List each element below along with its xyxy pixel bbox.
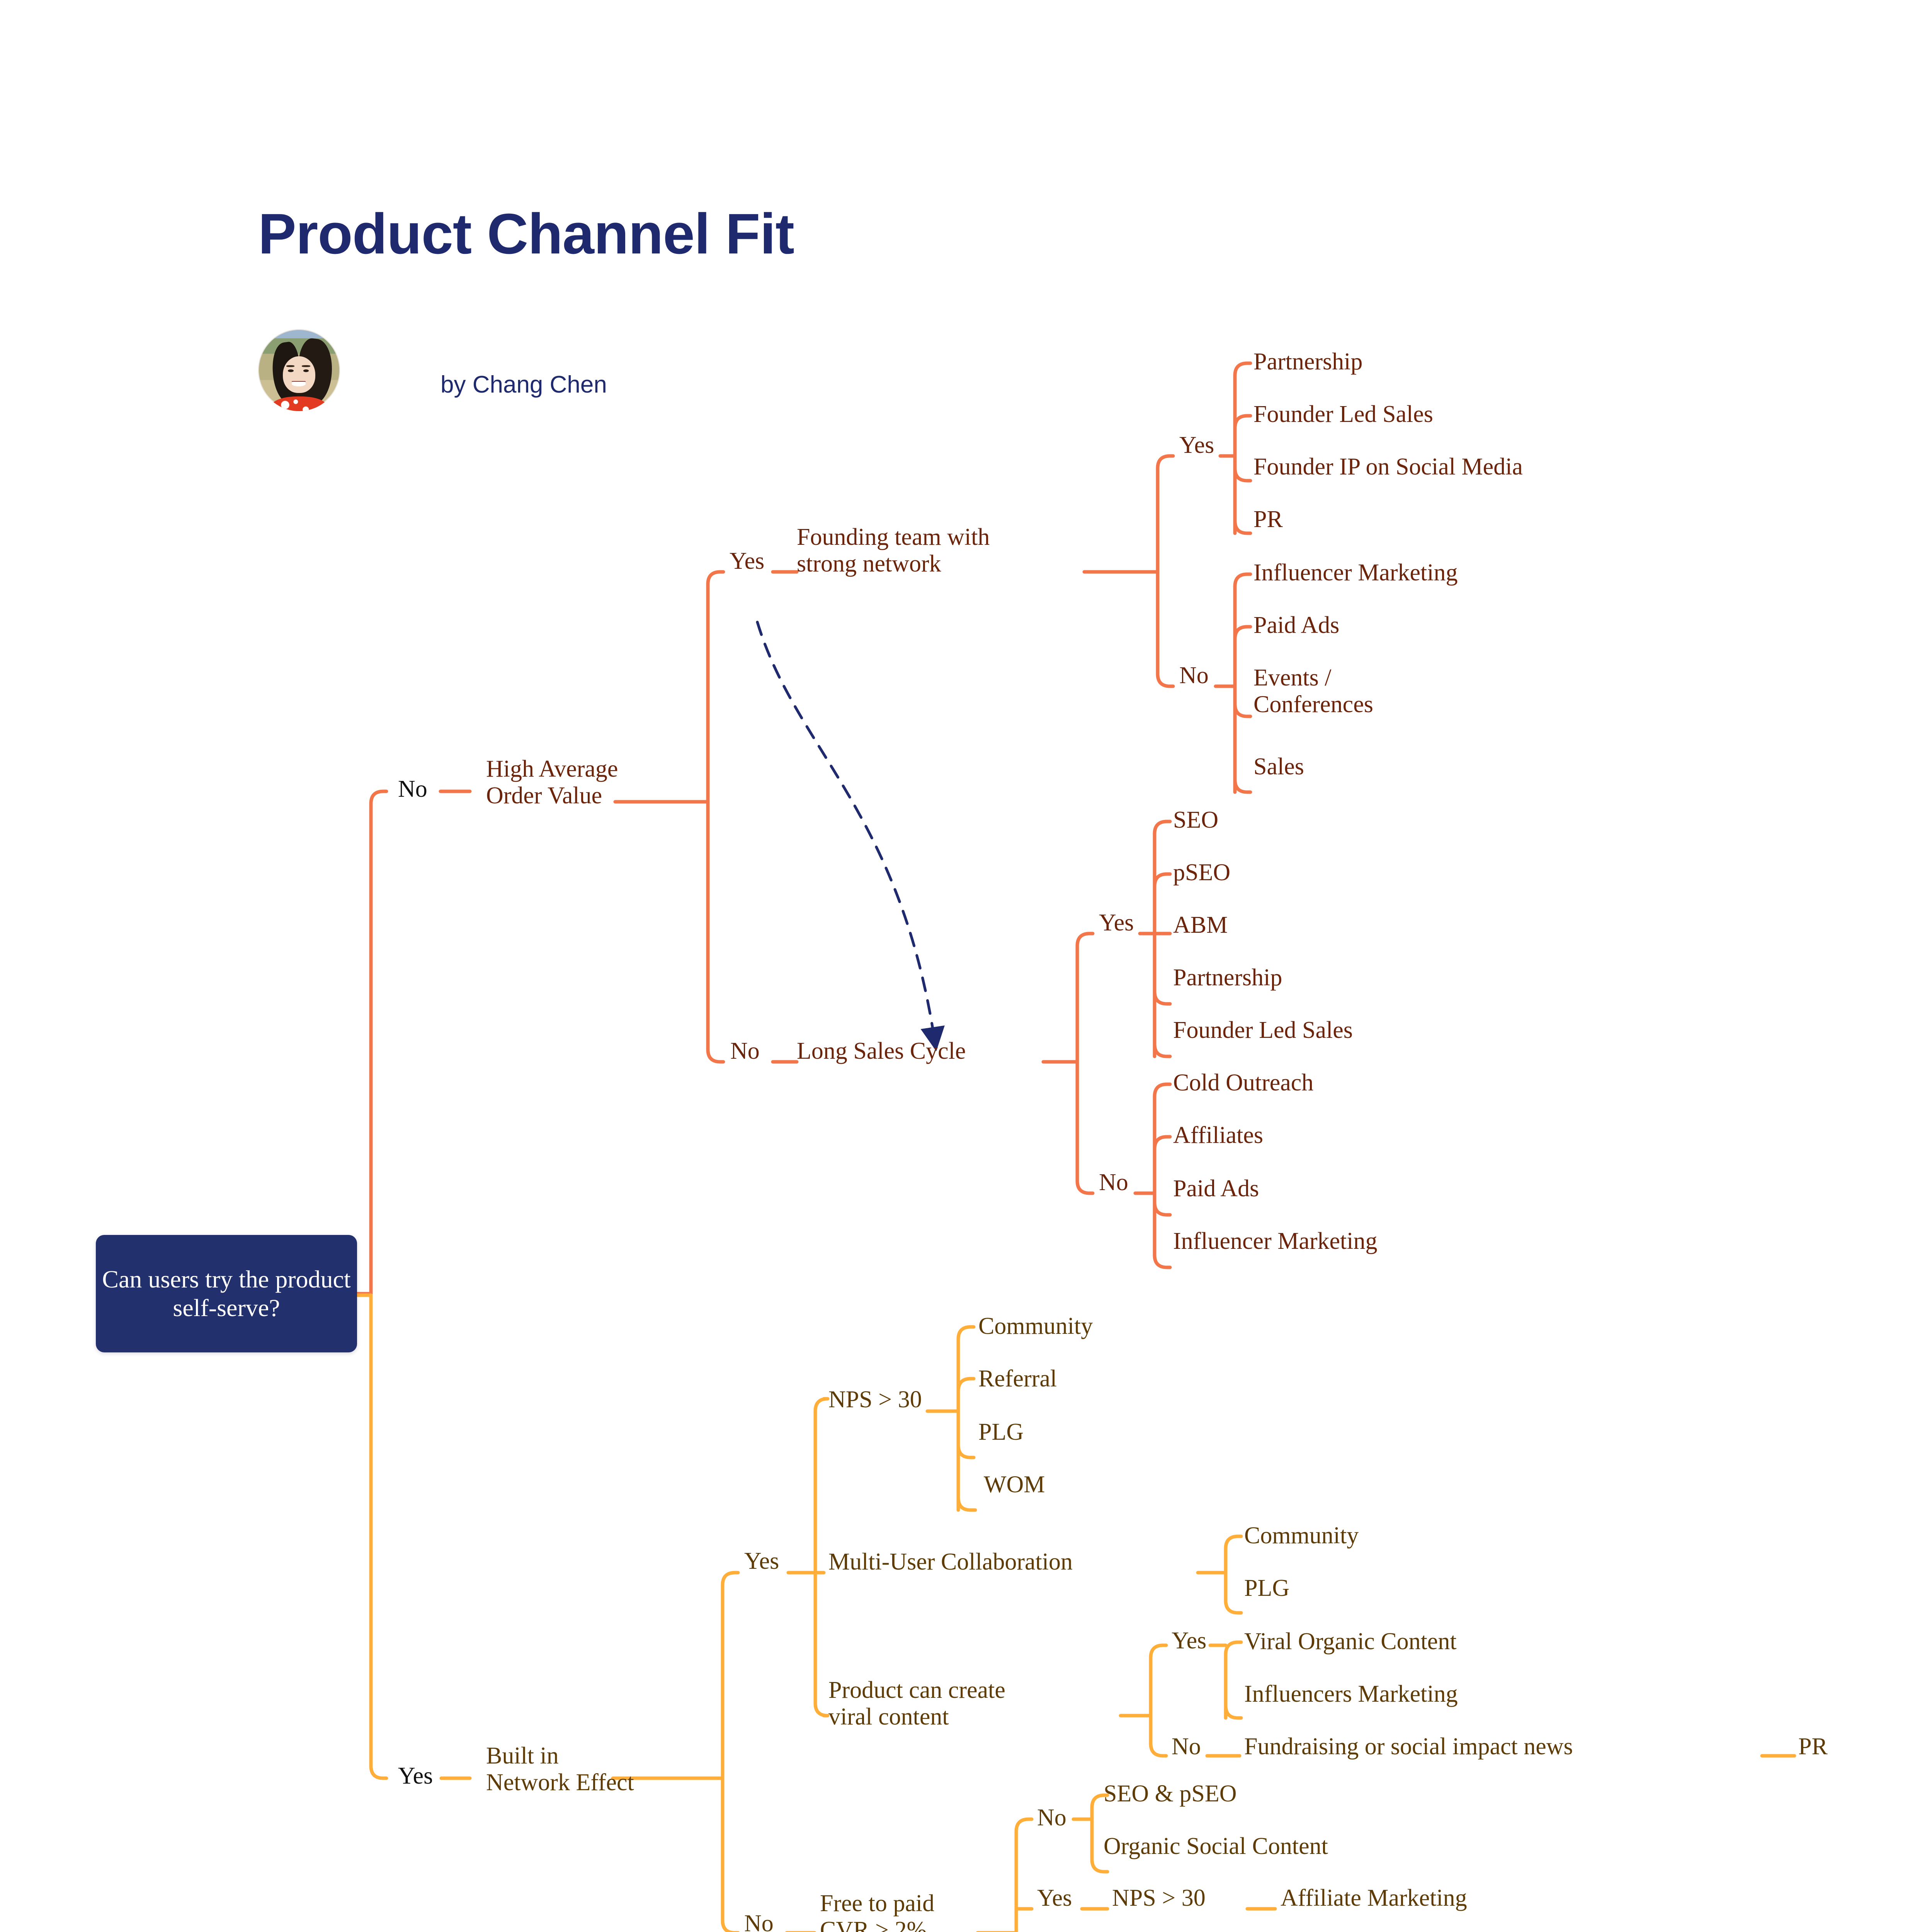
leaf-founder-led-sales-2[interactable]: Founder Led Sales [1173, 1017, 1353, 1044]
edge-label-yes-ft[interactable]: Yes [1179, 432, 1214, 459]
node-long-sales-cycle[interactable]: Long Sales Cycle [797, 1038, 966, 1065]
leaf-pr[interactable]: PR [1253, 506, 1283, 533]
leaf-wom[interactable]: WOM [984, 1471, 1045, 1498]
node-nps-gt-30-2[interactable]: NPS > 30 [1112, 1885, 1206, 1912]
leaf-founder-led-sales[interactable]: Founder Led Sales [1253, 401, 1433, 428]
edge-label-yes-bne[interactable]: Yes [744, 1548, 779, 1575]
leaf-community-2[interactable]: Community [1244, 1522, 1359, 1549]
edge-label-no[interactable]: No [398, 776, 427, 803]
leaf-influencer-marketing[interactable]: Influencer Marketing [1253, 560, 1458, 586]
node-fundraising-social-impact-news[interactable]: Fundraising or social impact news [1244, 1733, 1573, 1760]
leaf-affiliates[interactable]: Affiliates [1173, 1122, 1263, 1149]
leaf-abm[interactable]: ABM [1173, 912, 1228, 939]
leaf-seo-and-pseo[interactable]: SEO & pSEO [1104, 1781, 1236, 1807]
edge-label-no-lsc-2[interactable]: No [1099, 1169, 1128, 1196]
leaf-pr-2[interactable]: PR [1798, 1733, 1828, 1760]
leaf-partnership-2[interactable]: Partnership [1173, 964, 1282, 991]
leaf-plg[interactable]: PLG [978, 1419, 1024, 1446]
leaf-affiliate-marketing[interactable]: Affiliate Marketing [1281, 1885, 1467, 1912]
page-title: Product Channel Fit [258, 206, 794, 263]
edge-label-no-ft[interactable]: No [1179, 662, 1209, 689]
root-node[interactable]: Can users try the product self-serve? [96, 1235, 357, 1352]
node-high-average-order-value[interactable]: High Average Order Value [486, 756, 618, 810]
edge-label-yes-founding-team[interactable]: Yes [730, 548, 764, 575]
leaf-seo[interactable]: SEO [1173, 807, 1218, 833]
leaf-paid-ads[interactable]: Paid Ads [1253, 612, 1339, 639]
diagram-canvas: Product Channel Fit by Chang Chen [0, 0, 1932, 1932]
leaf-paid-ads-2[interactable]: Paid Ads [1173, 1175, 1259, 1202]
author-byline: by Chang Chen [440, 371, 607, 398]
leaf-influencers-marketing[interactable]: Influencers Marketing [1244, 1681, 1458, 1708]
leaf-founder-ip-social-media[interactable]: Founder IP on Social Media [1253, 454, 1523, 480]
edge-label-no-ftp[interactable]: No [1037, 1804, 1066, 1831]
leaf-plg-2[interactable]: PLG [1244, 1575, 1289, 1602]
leaf-sales[interactable]: Sales [1253, 753, 1304, 780]
avatar [258, 329, 340, 411]
leaf-partnership[interactable]: Partnership [1253, 349, 1362, 375]
leaf-pseo[interactable]: pSEO [1173, 859, 1230, 886]
edge-label-yes-ftp[interactable]: Yes [1037, 1885, 1072, 1912]
leaf-community[interactable]: Community [978, 1313, 1093, 1340]
leaf-referral[interactable]: Referral [978, 1366, 1057, 1392]
tree-connectors [0, 0, 1932, 1932]
edge-label-no-bne[interactable]: No [744, 1910, 774, 1932]
node-multi-user-collaboration[interactable]: Multi-User Collaboration [828, 1549, 1073, 1575]
edge-label-yes[interactable]: Yes [398, 1763, 433, 1789]
edge-label-yes-viral[interactable]: Yes [1172, 1628, 1206, 1654]
node-product-viral-content[interactable]: Product can create viral content [828, 1677, 1005, 1731]
node-built-in-network-effect[interactable]: Built in Network Effect [486, 1743, 634, 1796]
leaf-cold-outreach[interactable]: Cold Outreach [1173, 1070, 1313, 1096]
edge-label-no-lsc[interactable]: No [730, 1038, 760, 1065]
leaf-events-conferences[interactable]: Events / Conferences [1253, 665, 1373, 718]
edge-label-no-viral[interactable]: No [1172, 1733, 1201, 1760]
node-free-to-paid-cvr[interactable]: Free to paid CVR > 2% [820, 1890, 934, 1932]
leaf-organic-social-content[interactable]: Organic Social Content [1104, 1833, 1328, 1860]
node-founding-team[interactable]: Founding team with strong network [797, 524, 990, 578]
edge-label-yes-lsc[interactable]: Yes [1099, 910, 1134, 936]
node-nps-gt-30[interactable]: NPS > 30 [828, 1386, 922, 1413]
leaf-viral-organic-content[interactable]: Viral Organic Content [1244, 1628, 1457, 1655]
leaf-influencer-marketing-2[interactable]: Influencer Marketing [1173, 1228, 1377, 1255]
